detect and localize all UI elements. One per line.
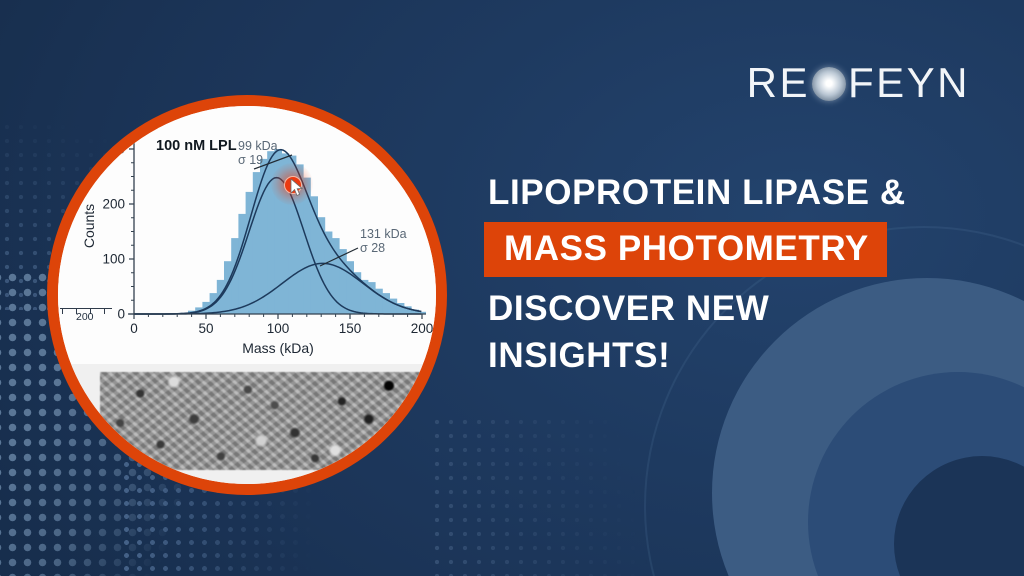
headline-block: LIPOPROTEIN LIPASE & MASS PHOTOMETRY DIS… [488, 175, 1008, 385]
x-tick-label: 50 [198, 321, 213, 336]
histogram-bar [296, 164, 304, 314]
y-tick-label: 200 [102, 197, 125, 212]
histogram-bar [325, 232, 333, 315]
mass-photometry-chart: 0501001502000100200300Mass (kDa)Counts10… [58, 106, 436, 364]
x-tick-label: 200 [411, 321, 434, 336]
histogram-bar [382, 293, 390, 314]
x-tick-label: 100 [267, 321, 290, 336]
histogram-bar [282, 153, 290, 314]
histogram-bar [346, 261, 354, 314]
logo-text-right: FEYN [848, 62, 970, 104]
micrograph-panel [58, 364, 436, 484]
secondary-chart-axis-fragment: 200 [60, 302, 118, 324]
histogram-bar [253, 172, 261, 314]
sphere-orb-icon [812, 67, 846, 101]
headline-line-1: LIPOPROTEIN LIPASE & [488, 175, 1008, 210]
headline-line-4: INSIGHTS! [488, 338, 1008, 373]
circular-image-frame: 0501001502000100200300Mass (kDa)Counts10… [47, 95, 447, 495]
micrograph-image [100, 372, 436, 470]
histogram-bar [238, 214, 246, 314]
halftone-pattern-lower-right [430, 415, 770, 576]
logo-text-left: RE [747, 62, 810, 104]
histogram-bar [289, 156, 297, 314]
y-tick-label: 300 [102, 142, 125, 157]
headline-line-3: DISCOVER NEW [488, 291, 1008, 326]
marketing-banner: RE FEYN LIPOPROTEIN LIPASE & MASS PHOTOM… [0, 0, 1024, 576]
circular-image-content: 0501001502000100200300Mass (kDa)Counts10… [58, 106, 436, 484]
headline-line-2-highlight: MASS PHOTOMETRY [484, 222, 887, 277]
x-tick-label: 0 [130, 321, 138, 336]
ghost-tick-1 [62, 308, 63, 314]
headline-highlight-wrap: MASS PHOTOMETRY [488, 222, 1008, 291]
annotation-1-mass: 99 kDa [238, 139, 278, 153]
y-axis-label: Counts [81, 204, 97, 248]
chart-svg: 0501001502000100200300Mass (kDa)Counts10… [58, 106, 436, 364]
refeyn-logo: RE FEYN [747, 62, 970, 104]
x-tick-label: 150 [339, 321, 362, 336]
x-axis-label: Mass (kDa) [242, 340, 314, 356]
ghost-axis-label: 200 [76, 311, 94, 323]
chart-sample-label: 100 nM LPL [156, 138, 237, 154]
ghost-tick-4 [104, 308, 105, 314]
histogram-bar [390, 299, 398, 314]
annotation-2-sigma: σ 28 [360, 241, 385, 255]
histogram-bar [303, 178, 311, 314]
annotation-2-mass: 131 kDa [360, 227, 407, 241]
annotation-1-sigma: σ 19 [238, 153, 263, 167]
y-tick-label: 0 [117, 307, 125, 322]
y-tick-label: 100 [102, 252, 125, 267]
